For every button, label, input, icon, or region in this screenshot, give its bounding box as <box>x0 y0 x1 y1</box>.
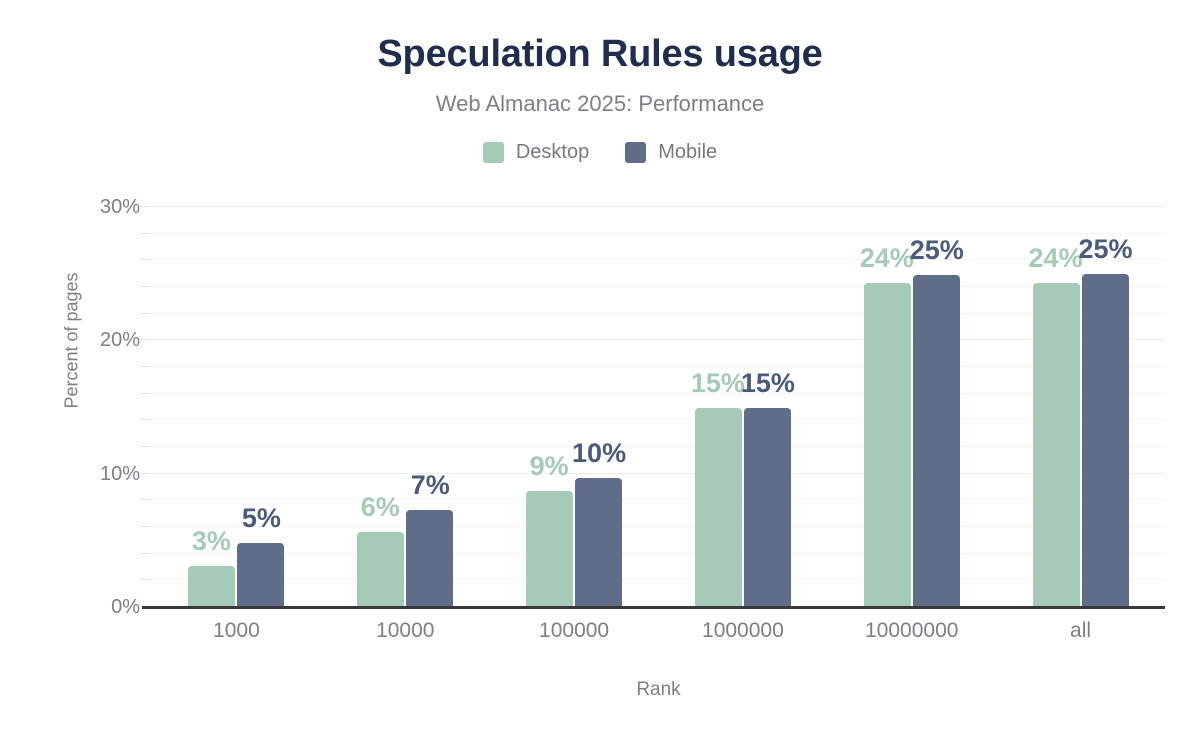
bar-group: 3%5% <box>152 207 321 607</box>
y-tick-label: 10% <box>50 464 140 484</box>
page-title: Speculation Rules usage <box>0 32 1200 76</box>
bar-value-label-mobile: 10% <box>564 438 634 468</box>
bar-group: 15%15% <box>658 207 827 607</box>
bar-mobile[interactable] <box>406 510 453 607</box>
bar-mobile[interactable] <box>237 543 284 607</box>
bar-mobile[interactable] <box>1082 274 1129 607</box>
y-tick-mark <box>140 579 150 580</box>
bar-group: 24%25% <box>827 207 996 607</box>
y-tick-mark <box>140 473 150 474</box>
legend-swatch-desktop <box>483 142 504 163</box>
bar-group: 9%10% <box>490 207 659 607</box>
chart-subtitle: Web Almanac 2025: Performance <box>0 90 1200 118</box>
bar-value-label-mobile: 5% <box>226 503 296 533</box>
y-tick-mark <box>140 233 150 234</box>
bar-desktop[interactable] <box>695 408 742 607</box>
bar-group: 6%7% <box>321 207 490 607</box>
bar-desktop[interactable] <box>188 566 235 607</box>
y-tick-mark <box>140 526 150 527</box>
x-tick-label: 10000 <box>321 618 490 644</box>
y-axis-ticks: 0%10%20%30% <box>0 207 140 607</box>
bar-value-label-mobile: 15% <box>733 368 803 398</box>
x-tick-label: 1000000 <box>658 618 827 644</box>
legend-item-mobile[interactable]: Mobile <box>625 141 717 163</box>
x-tick-label: 1000 <box>152 618 321 644</box>
x-tick-label: 100000 <box>490 618 659 644</box>
bar-desktop[interactable] <box>1033 283 1080 607</box>
y-tick-mark <box>140 339 150 340</box>
bar-desktop[interactable] <box>526 491 573 607</box>
y-tick-mark <box>140 446 150 447</box>
x-axis-tick-labels: 100010000100000100000010000000all <box>152 618 1165 644</box>
bar-value-label-mobile: 7% <box>395 470 465 500</box>
y-tick-mark <box>140 259 150 260</box>
plot-area: 3%5%6%7%9%10%15%15%24%25%24%25% <box>152 207 1165 607</box>
y-tick-mark <box>140 313 150 314</box>
legend-swatch-mobile <box>625 142 646 163</box>
x-tick-label: 10000000 <box>827 618 996 644</box>
bar-groups: 3%5%6%7%9%10%15%15%24%25%24%25% <box>152 207 1165 607</box>
y-tick-mark <box>140 286 150 287</box>
bar-value-label-mobile: 25% <box>1071 234 1141 264</box>
y-tick-mark <box>140 499 150 500</box>
y-tick-mark <box>140 206 150 207</box>
x-axis-title: Rank <box>152 678 1165 702</box>
y-tick-mark <box>140 393 150 394</box>
y-tick-label: 20% <box>50 330 140 350</box>
bar-desktop[interactable] <box>864 283 911 607</box>
y-tick-mark <box>140 419 150 420</box>
bar-mobile[interactable] <box>744 408 791 607</box>
y-tick-mark <box>140 366 150 367</box>
y-tick-label: 30% <box>50 197 140 217</box>
x-tick-label: all <box>996 618 1165 644</box>
legend-item-label: Mobile <box>658 141 717 163</box>
bar-value-label-mobile: 25% <box>902 235 972 265</box>
y-tick-label: 0% <box>50 597 140 617</box>
bar-mobile[interactable] <box>913 275 960 607</box>
speculation-rules-usage-chart: Speculation Rules usage Web Almanac 2025… <box>0 0 1200 742</box>
bar-group: 24%25% <box>996 207 1165 607</box>
legend-item-label: Desktop <box>516 141 589 163</box>
legend-item-desktop[interactable]: Desktop <box>483 141 589 163</box>
x-axis-baseline <box>142 606 1165 609</box>
chart-legend: DesktopMobile <box>0 141 1200 163</box>
bar-mobile[interactable] <box>575 478 622 607</box>
y-tick-mark <box>140 553 150 554</box>
bar-desktop[interactable] <box>357 532 404 607</box>
